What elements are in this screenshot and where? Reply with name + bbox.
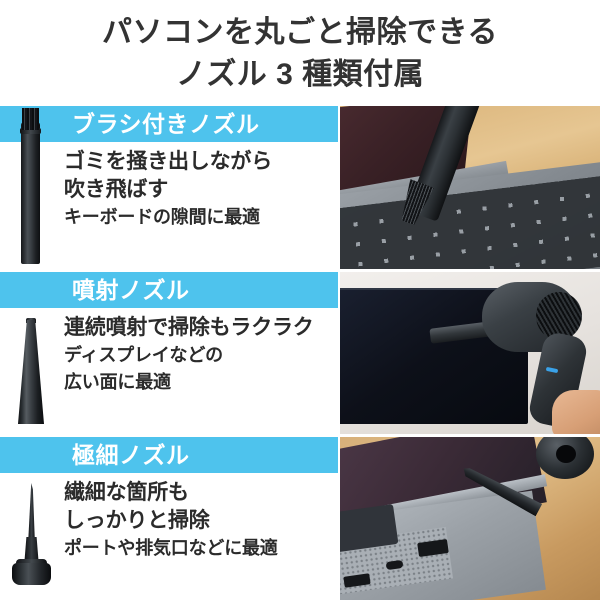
photo-brush-on-keyboard bbox=[340, 106, 600, 269]
feature-section-brush: ブラシ付きノズル ゴミを掻き出しながら 吹き飛ばす キーボードの隙間に最適 bbox=[0, 106, 600, 269]
brush-nozzle-tube bbox=[21, 122, 40, 264]
feature-line: ディスプレイなどの bbox=[64, 342, 338, 369]
brush-nozzle-image bbox=[0, 106, 62, 269]
photo-needle-on-ports bbox=[340, 437, 600, 600]
cone-nozzle-image bbox=[0, 272, 62, 434]
page-title-line-1: パソコンを丸ごと掃除できる bbox=[0, 12, 600, 54]
feature-line: ポートや排気口などに最適 bbox=[64, 535, 338, 562]
photo-blower-on-display bbox=[340, 272, 600, 434]
feature-line: 繊細な箇所も bbox=[64, 479, 338, 507]
section-heading-2: 噴射ノズル bbox=[72, 272, 190, 308]
cone-nozzle-body bbox=[18, 320, 44, 424]
feature-section-jet: 噴射ノズル 連続噴射で掃除もラクラク ディスプレイなどの 広い面に最適 bbox=[0, 272, 600, 434]
feature-description-1: ゴミを掻き出しながら 吹き飛ばす キーボードの隙間に最適 bbox=[64, 148, 338, 231]
feature-line: キーボードの隙間に最適 bbox=[64, 204, 338, 231]
feature-section-fine: 極細ノズル 繊細な箇所も しっかりと掃除 ポートや排気口などに最適 bbox=[0, 437, 600, 600]
feature-line: しっかりと掃除 bbox=[64, 507, 338, 535]
section-heading-3: 極細ノズル bbox=[72, 437, 190, 473]
feature-text-panel-2: 噴射ノズル 連続噴射で掃除もラクラク ディスプレイなどの 広い面に最適 bbox=[0, 272, 338, 434]
needle-nozzle-image bbox=[0, 437, 62, 600]
page-title: パソコンを丸ごと掃除できる ノズル 3 種類付属 bbox=[0, 0, 600, 106]
brush-nozzle-bristles bbox=[22, 108, 39, 130]
feature-line: ゴミを掻き出しながら bbox=[64, 148, 338, 176]
feature-text-panel-3: 極細ノズル 繊細な箇所も しっかりと掃除 ポートや排気口などに最適 bbox=[0, 437, 338, 600]
feature-description-3: 繊細な箇所も しっかりと掃除 ポートや排気口などに最適 bbox=[64, 479, 338, 562]
feature-line: 連続噴射で掃除もラクラク bbox=[64, 314, 338, 342]
feature-description-2: 連続噴射で掃除もラクラク ディスプレイなどの 広い面に最適 bbox=[64, 314, 338, 396]
needle-nozzle-spike bbox=[28, 483, 35, 545]
needle-nozzle-base bbox=[12, 563, 51, 585]
page-title-line-2: ノズル 3 種類付属 bbox=[0, 54, 600, 96]
blower-intake-in-photo bbox=[556, 445, 576, 463]
feature-line: 広い面に最適 bbox=[64, 369, 338, 396]
feature-text-panel-1: ブラシ付きノズル ゴミを掻き出しながら 吹き飛ばす キーボードの隙間に最適 bbox=[0, 106, 338, 269]
feature-line: 吹き飛ばす bbox=[64, 176, 338, 204]
hand-holding-blower bbox=[552, 390, 600, 434]
section-heading-1: ブラシ付きノズル bbox=[72, 106, 260, 142]
